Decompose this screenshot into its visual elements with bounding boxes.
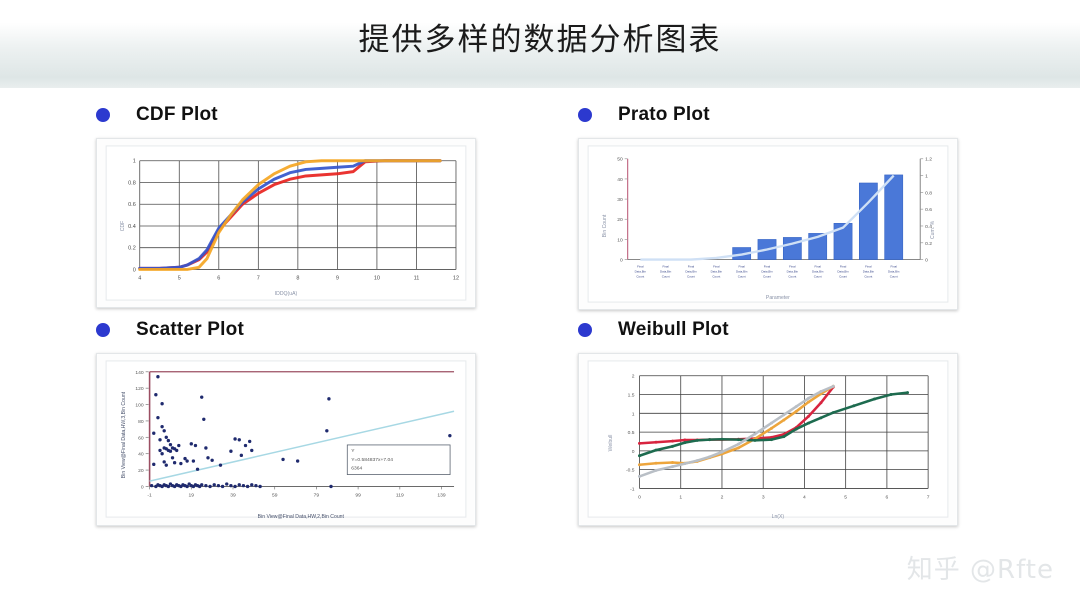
prato-y2-axis-label: Cum. % bbox=[930, 220, 936, 239]
svg-text:Final: Final bbox=[789, 264, 796, 268]
svg-text:Count: Count bbox=[662, 274, 670, 278]
svg-text:99: 99 bbox=[355, 492, 361, 498]
slide-root: 提供多样的数据分析图表 CDF Plot 00.20.40.60.81 4567… bbox=[0, 0, 1080, 608]
svg-text:Count: Count bbox=[738, 274, 746, 278]
svg-text:0.4: 0.4 bbox=[128, 224, 136, 230]
bullet-icon bbox=[578, 323, 592, 337]
svg-text:Final: Final bbox=[637, 264, 644, 268]
svg-text:Final: Final bbox=[840, 264, 847, 268]
page-title: 提供多样的数据分析图表 bbox=[0, 14, 1080, 59]
svg-text:0.8: 0.8 bbox=[925, 190, 932, 196]
svg-text:119: 119 bbox=[396, 492, 404, 498]
svg-text:0: 0 bbox=[620, 258, 623, 264]
svg-text:30: 30 bbox=[617, 197, 623, 203]
svg-text:0: 0 bbox=[632, 449, 635, 455]
svg-text:Count: Count bbox=[890, 274, 898, 278]
svg-text:0: 0 bbox=[925, 258, 928, 264]
bullet-icon bbox=[578, 108, 592, 122]
quadrant-prato: Prato Plot 01020304050 00.20.40.60.811.2… bbox=[578, 100, 958, 310]
cdf-x-axis-label: IDDQ(uA) bbox=[275, 291, 298, 297]
section-title-prato: Prato Plot bbox=[618, 104, 710, 126]
prato-x-axis-label: Parameter bbox=[766, 295, 790, 301]
svg-text:0.5: 0.5 bbox=[628, 430, 635, 436]
svg-text:0.8: 0.8 bbox=[128, 180, 136, 186]
svg-text:19: 19 bbox=[189, 492, 195, 498]
section-header-cdf: CDF Plot bbox=[96, 100, 476, 130]
svg-text:Count: Count bbox=[763, 274, 771, 278]
weibull-plot-svg: -1-0.500.511.52 01234567 Ln(X) Weibull bbox=[579, 354, 957, 525]
svg-text:Count: Count bbox=[814, 274, 822, 278]
svg-text:0: 0 bbox=[141, 484, 144, 490]
svg-text:4: 4 bbox=[138, 275, 141, 281]
weibull-y-axis-label: Weibull bbox=[608, 435, 614, 452]
svg-text:1: 1 bbox=[133, 159, 136, 165]
svg-text:60: 60 bbox=[138, 435, 144, 441]
svg-text:1.2: 1.2 bbox=[925, 157, 932, 163]
svg-text:7: 7 bbox=[257, 275, 260, 281]
svg-text:120: 120 bbox=[135, 386, 143, 392]
section-title-weibull: Weibull Plot bbox=[618, 319, 729, 341]
section-header-scatter: Scatter Plot bbox=[96, 315, 476, 345]
svg-text:2: 2 bbox=[721, 494, 724, 500]
svg-text:Y=0.584837x+7.04: Y=0.584837x+7.04 bbox=[351, 457, 393, 463]
chart-card-prato[interactable]: 01020304050 00.20.40.60.811.2 FinalData,… bbox=[578, 138, 958, 310]
svg-text:Final: Final bbox=[814, 264, 821, 268]
svg-text:-1: -1 bbox=[147, 492, 152, 498]
svg-text:40: 40 bbox=[617, 177, 623, 183]
svg-text:6364: 6364 bbox=[351, 466, 362, 472]
svg-text:5: 5 bbox=[844, 494, 847, 500]
svg-text:139: 139 bbox=[437, 492, 445, 498]
svg-text:6: 6 bbox=[886, 494, 889, 500]
svg-text:Count: Count bbox=[788, 274, 796, 278]
svg-text:59: 59 bbox=[272, 492, 278, 498]
svg-text:Count: Count bbox=[864, 274, 872, 278]
svg-text:0: 0 bbox=[133, 267, 136, 273]
section-title-scatter: Scatter Plot bbox=[136, 319, 244, 341]
svg-text:Data,Bin: Data,Bin bbox=[711, 269, 723, 273]
svg-text:Count: Count bbox=[687, 274, 695, 278]
svg-text:50: 50 bbox=[617, 157, 623, 163]
quadrant-cdf: CDF Plot 00.20.40.60.81 456789101112 IDD… bbox=[96, 100, 476, 310]
bullet-icon bbox=[96, 108, 110, 122]
svg-text:1: 1 bbox=[679, 494, 682, 500]
section-header-prato: Prato Plot bbox=[578, 100, 958, 130]
watermark: 知乎 @Rfte bbox=[907, 549, 1054, 586]
svg-text:9: 9 bbox=[336, 275, 339, 281]
prato-plot-svg: 01020304050 00.20.40.60.811.2 FinalData,… bbox=[579, 139, 957, 309]
svg-text:4: 4 bbox=[803, 494, 806, 500]
bullet-icon bbox=[96, 323, 110, 337]
svg-text:Final: Final bbox=[713, 264, 720, 268]
svg-text:Data,Bin: Data,Bin bbox=[812, 269, 824, 273]
svg-text:100: 100 bbox=[135, 403, 143, 409]
prato-y-axis-label: Bin Count bbox=[602, 214, 608, 237]
svg-text:6: 6 bbox=[217, 275, 220, 281]
svg-text:3: 3 bbox=[762, 494, 765, 500]
svg-text:-0.5: -0.5 bbox=[626, 468, 635, 474]
svg-text:0: 0 bbox=[638, 494, 641, 500]
svg-text:8: 8 bbox=[296, 275, 299, 281]
svg-text:40: 40 bbox=[138, 452, 144, 458]
svg-text:140: 140 bbox=[135, 370, 143, 376]
svg-text:Data,Bin: Data,Bin bbox=[863, 269, 875, 273]
svg-text:Final: Final bbox=[738, 264, 745, 268]
scatter-equation-box: YY=0.584837x+7.046364 bbox=[347, 445, 450, 475]
quadrant-scatter: Scatter Plot 020406080100120140 -1193959… bbox=[96, 315, 476, 527]
chart-card-scatter[interactable]: 020406080100120140 -11939597999119139 YY… bbox=[96, 353, 476, 526]
svg-text:Data,Bin: Data,Bin bbox=[761, 269, 773, 273]
svg-text:11: 11 bbox=[414, 275, 420, 281]
svg-text:Count: Count bbox=[636, 274, 644, 278]
svg-text:Data,Bin: Data,Bin bbox=[888, 269, 900, 273]
chart-card-cdf[interactable]: 00.20.40.60.81 456789101112 IDDQ(uA) CDF bbox=[96, 138, 476, 308]
svg-text:20: 20 bbox=[617, 217, 623, 223]
svg-text:Data,Bin: Data,Bin bbox=[736, 269, 748, 273]
svg-text:0.2: 0.2 bbox=[925, 241, 932, 247]
svg-text:0.6: 0.6 bbox=[925, 207, 932, 213]
svg-text:5: 5 bbox=[178, 275, 181, 281]
svg-text:79: 79 bbox=[314, 492, 320, 498]
svg-text:1.5: 1.5 bbox=[628, 393, 635, 399]
svg-text:20: 20 bbox=[138, 468, 144, 474]
scatter-y-axis-label: Bin View@Final Data,HW,3,Bin Count bbox=[121, 391, 127, 478]
cdf-plot-svg: 00.20.40.60.81 456789101112 IDDQ(uA) CDF bbox=[97, 139, 475, 307]
svg-text:Count: Count bbox=[839, 274, 847, 278]
svg-text:Final: Final bbox=[890, 264, 897, 268]
svg-text:-1: -1 bbox=[630, 486, 635, 492]
svg-text:Final: Final bbox=[688, 264, 695, 268]
quadrant-weibull: Weibull Plot -1-0.500.511.52 01234567 Ln… bbox=[578, 315, 958, 527]
svg-text:Data,Bin: Data,Bin bbox=[660, 269, 672, 273]
svg-text:2: 2 bbox=[632, 374, 635, 380]
scatter-x-axis-label: Bin View@Final Data,HW,2,Bin Count bbox=[258, 514, 345, 520]
svg-text:Data,Bin: Data,Bin bbox=[685, 269, 697, 273]
svg-text:Data,Bin: Data,Bin bbox=[635, 269, 647, 273]
svg-text:80: 80 bbox=[138, 419, 144, 425]
scatter-plot-svg: 020406080100120140 -11939597999119139 YY… bbox=[97, 354, 475, 525]
svg-text:10: 10 bbox=[374, 275, 380, 281]
svg-text:1: 1 bbox=[632, 411, 635, 417]
section-header-weibull: Weibull Plot bbox=[578, 315, 958, 345]
svg-text:Final: Final bbox=[662, 264, 669, 268]
cdf-y-axis-label: CDF bbox=[120, 221, 126, 232]
svg-text:Final: Final bbox=[865, 264, 872, 268]
svg-text:0.6: 0.6 bbox=[128, 202, 136, 208]
svg-text:12: 12 bbox=[453, 275, 459, 281]
svg-text:39: 39 bbox=[230, 492, 236, 498]
svg-text:0.2: 0.2 bbox=[128, 246, 136, 252]
svg-text:Count: Count bbox=[712, 274, 720, 278]
weibull-x-axis-label: Ln(X) bbox=[772, 514, 785, 520]
svg-text:Data,Bin: Data,Bin bbox=[837, 269, 849, 273]
section-title-cdf: CDF Plot bbox=[136, 104, 218, 126]
svg-text:1: 1 bbox=[925, 174, 928, 180]
svg-text:10: 10 bbox=[617, 237, 623, 243]
svg-text:Final: Final bbox=[764, 264, 771, 268]
svg-text:7: 7 bbox=[927, 494, 930, 500]
chart-card-weibull[interactable]: -1-0.500.511.52 01234567 Ln(X) Weibull bbox=[578, 353, 958, 526]
svg-text:Data,Bin: Data,Bin bbox=[787, 269, 799, 273]
